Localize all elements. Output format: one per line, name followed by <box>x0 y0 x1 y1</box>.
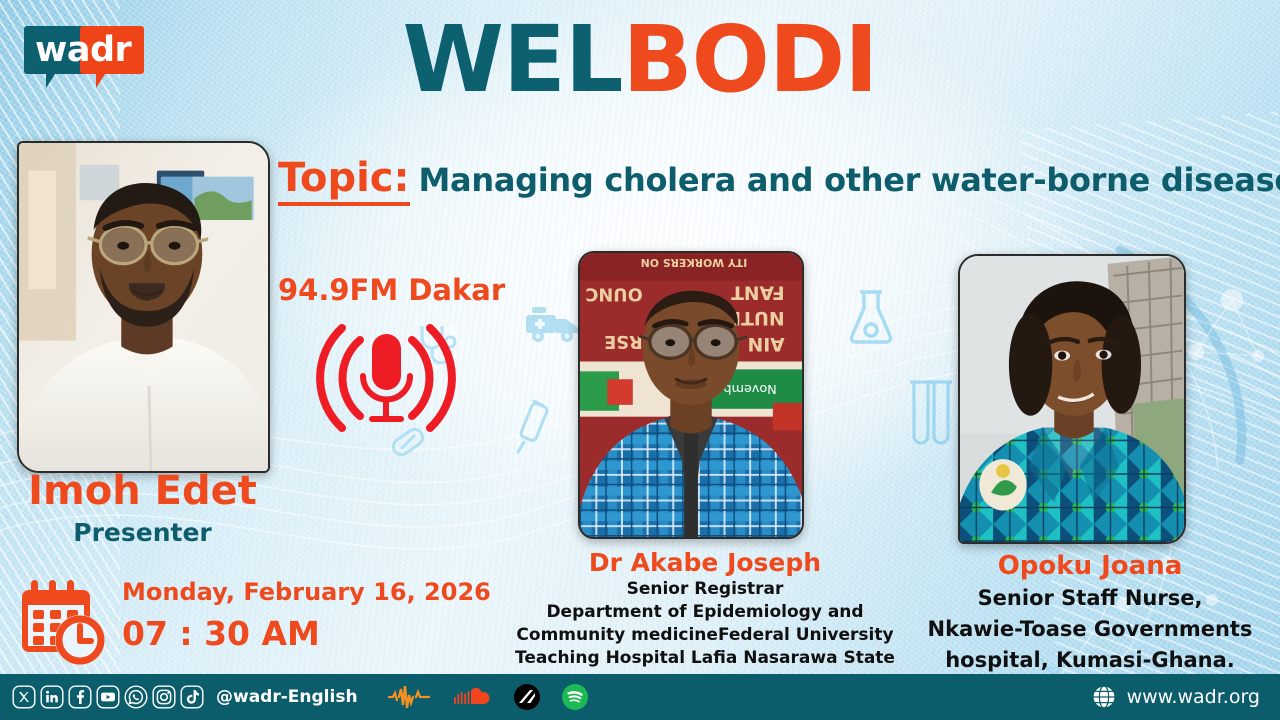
svg-text:OUNC: OUNC <box>585 284 642 304</box>
guest-desc-1-line-0: Senior Registrar <box>500 579 910 600</box>
title-bodi: BODI <box>623 6 878 113</box>
svg-text:RSE: RSE <box>604 331 643 351</box>
soundcloud-icon[interactable] <box>452 685 492 709</box>
guest-info-2: Opoku Joana Senior Staff Nurse, Nkawie-T… <box>900 551 1280 674</box>
station-frequency: 94.9FM Dakar <box>278 273 492 307</box>
guest-desc-1-line-1: Department of Epidemiology and <box>500 602 910 623</box>
social-links-group <box>12 685 204 709</box>
svg-text:Novemb: Novemb <box>723 381 776 396</box>
guest-photo-1: ITY WORKERS ON FANT NUTR AIN OUNC RSE No… <box>578 251 804 539</box>
x-twitter-icon[interactable] <box>12 685 36 709</box>
guest-desc-2-line-1: Nkawie-Toase Governments <box>900 616 1280 643</box>
audio-platforms-group <box>388 684 588 710</box>
welbodi-show-poster: wadr WELBODI Topic:Managing cholera and … <box>0 0 1280 720</box>
svg-text:ITY WORKERS ON: ITY WORKERS ON <box>641 256 747 269</box>
logo-text-wa: wa <box>35 30 90 70</box>
audio-waveform-icon[interactable] <box>388 684 430 710</box>
guest-desc-2-line-2: hospital, Kumasi-Ghana. <box>900 647 1280 674</box>
instagram-icon[interactable] <box>152 685 176 709</box>
guest-name-1: Dr Akabe Joseph <box>500 548 910 577</box>
website-url: www.wadr.org <box>1127 686 1260 708</box>
spotify-icon[interactable] <box>562 684 588 710</box>
guest-desc-1-line-3: Teaching Hospital Lafia Nasarawa State <box>500 648 910 669</box>
logo-text-dr: dr <box>90 30 131 70</box>
guest-info-1: Dr Akabe Joseph Senior Registrar Departm… <box>500 548 910 669</box>
svg-text:AIN: AIN <box>748 333 785 354</box>
microphone-broadcast-icon <box>296 312 476 437</box>
broadcast-date: Monday, February 16, 2026 <box>122 578 491 606</box>
test-tubes-icon <box>906 378 954 450</box>
topic-row: Topic:Managing cholera and other water-b… <box>278 156 1270 206</box>
presenter-name: Imoh Edet <box>0 468 285 514</box>
whatsapp-icon[interactable] <box>124 685 148 709</box>
syringe-icon <box>512 398 554 460</box>
title-wel: WEL <box>403 6 623 113</box>
calendar-clock-icon <box>18 578 110 670</box>
social-handle: @wadr-English <box>216 687 358 707</box>
linkedin-icon[interactable] <box>40 685 64 709</box>
logo-text: wadr <box>35 28 131 72</box>
footer-bar: @wadr-English <box>0 674 1280 720</box>
globe-icon <box>1091 684 1117 710</box>
topic-text: Managing cholera and other water-borne d… <box>419 158 1280 202</box>
deezer-icon[interactable] <box>514 684 540 710</box>
page-title: WELBODI <box>0 10 1280 110</box>
presenter-role: Presenter <box>0 518 285 547</box>
ambulance-icon <box>524 305 582 345</box>
guest-photo-2 <box>958 254 1186 544</box>
facebook-icon[interactable] <box>68 685 92 709</box>
flask-icon <box>846 288 896 346</box>
guest-desc-1-line-2: Community medicineFederal University <box>500 625 910 646</box>
guest-name-2: Opoku Joana <box>900 551 1280 581</box>
guest-desc-2-line-0: Senior Staff Nurse, <box>900 585 1280 612</box>
topic-label: Topic: <box>278 156 410 206</box>
svg-text:FANT: FANT <box>731 282 785 303</box>
broadcast-time: 07 : 30 AM <box>122 614 320 653</box>
website-group[interactable]: www.wadr.org <box>1091 684 1260 710</box>
presenter-photo <box>17 141 270 473</box>
youtube-icon[interactable] <box>96 685 120 709</box>
tiktok-icon[interactable] <box>180 685 204 709</box>
